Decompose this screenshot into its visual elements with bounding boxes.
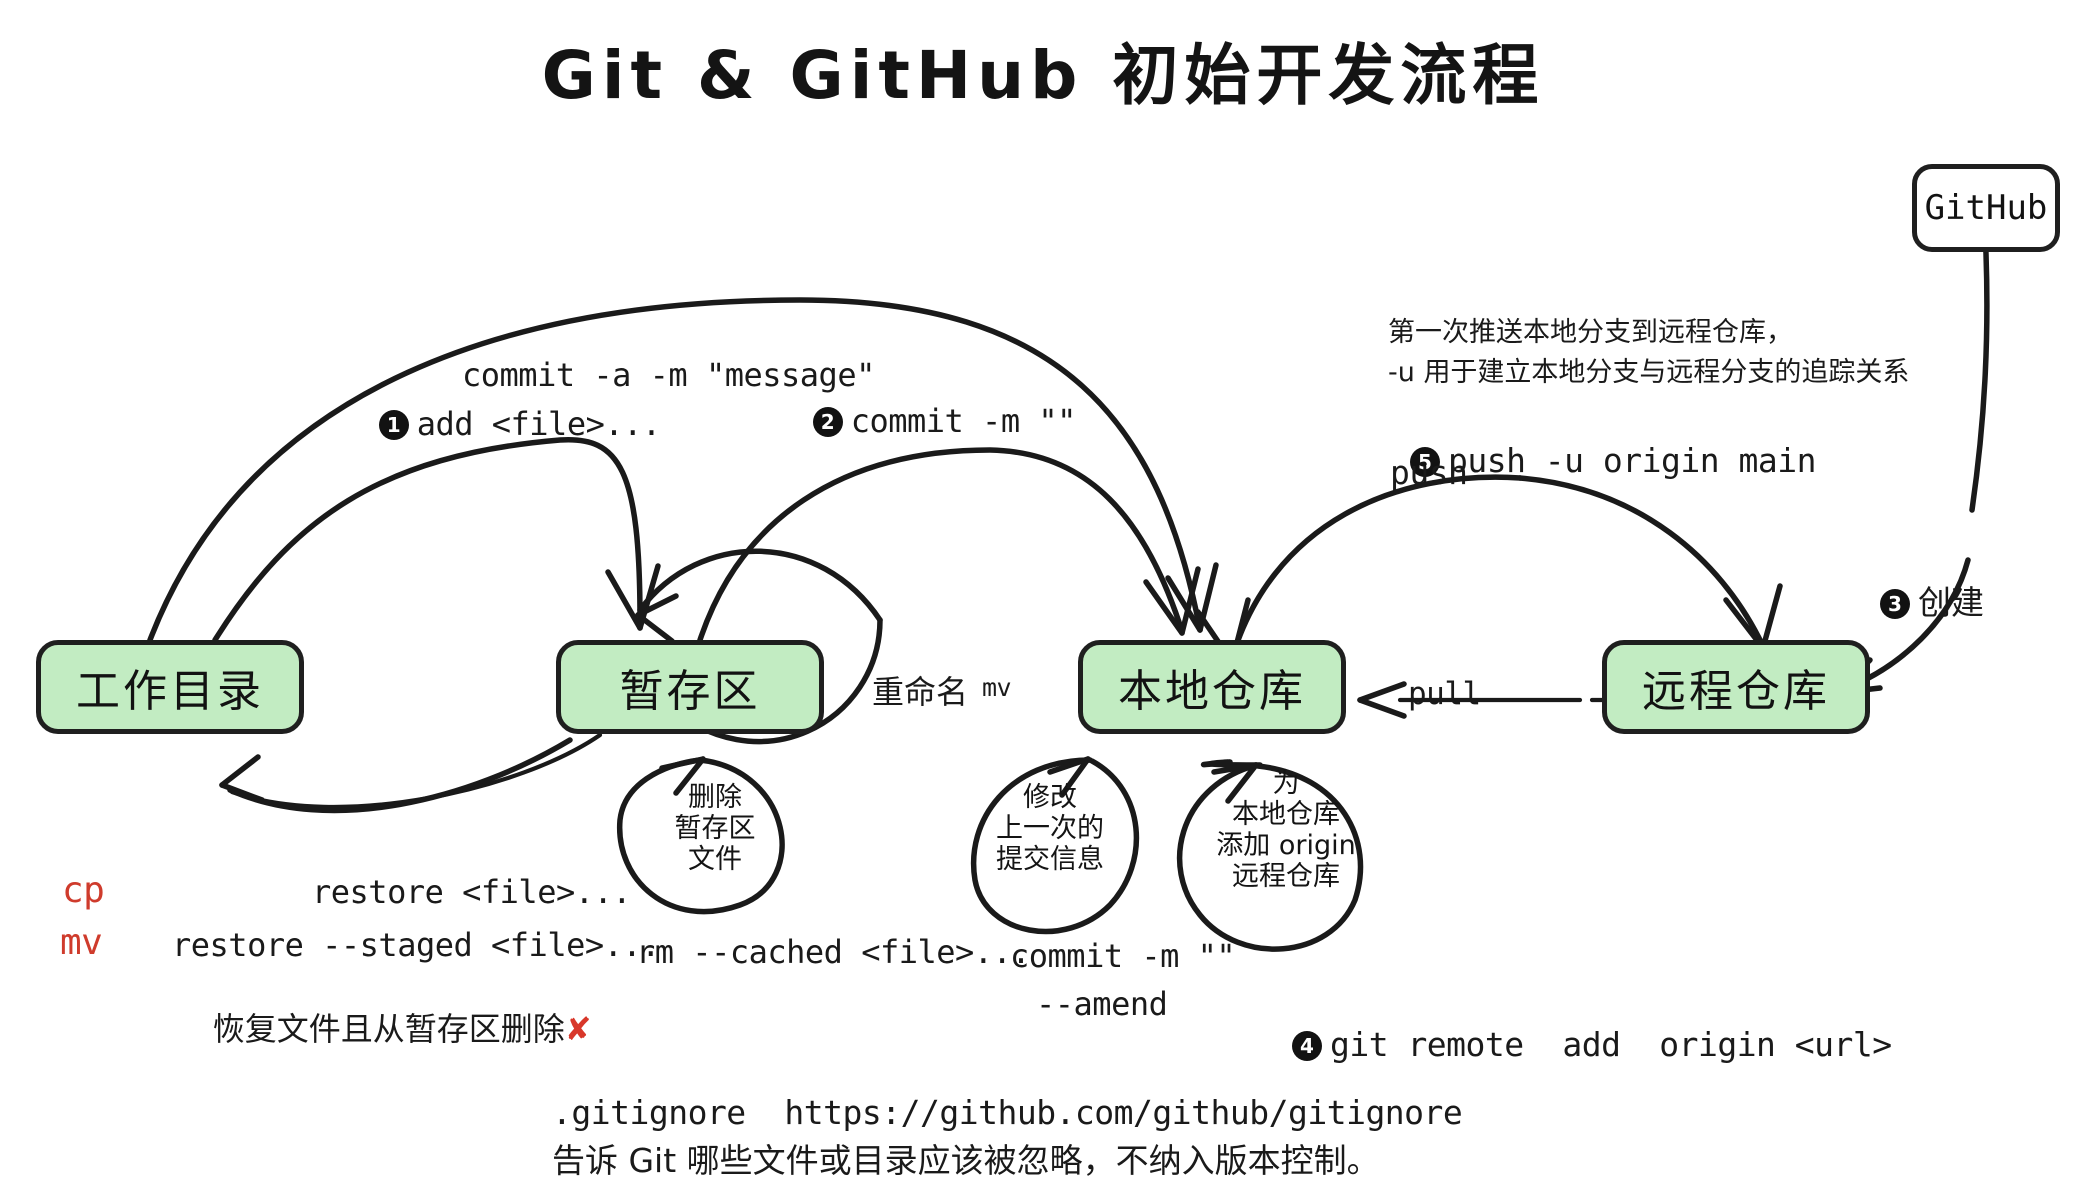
label-rename-cmd: mv bbox=[982, 672, 1011, 704]
page-title: Git & GitHub 初始开发流程 bbox=[0, 22, 2086, 118]
footer-gitignore-desc: 告诉 Git 哪些文件或目录应该被忽略，不纳入版本控制。 bbox=[552, 1140, 1380, 1182]
label-step3-text: 创建 bbox=[1918, 583, 1984, 622]
node-working-directory-label: 工作目录 bbox=[76, 655, 264, 719]
loop-add-origin-line-1: 本地仓库 bbox=[1196, 799, 1376, 830]
loop-delete-staged-line-0: 删除 bbox=[640, 782, 790, 813]
loop-add-origin-line-0: 为 bbox=[1196, 768, 1376, 799]
label-step5-text: push -u origin main bbox=[1448, 441, 1816, 480]
node-github-label: GitHub bbox=[1925, 188, 2048, 228]
label-mv: mv bbox=[60, 920, 102, 966]
label-commit-amend-line2: --amend bbox=[1036, 984, 1167, 1025]
step-3-badge: 3 bbox=[1880, 589, 1910, 619]
loop-amend-line-0: 修改 bbox=[970, 782, 1130, 813]
step-1-badge: 1 bbox=[379, 410, 409, 440]
node-local-repository[interactable]: 本地仓库 bbox=[1078, 640, 1346, 734]
loop-delete-staged-line-1: 暂存区 bbox=[640, 813, 790, 844]
diagram-canvas: Git & GitHub 初始开发流程 bbox=[0, 0, 2086, 1192]
node-local-repository-label: 本地仓库 bbox=[1118, 655, 1306, 719]
label-step1: 1add <file>... bbox=[338, 363, 661, 486]
loop-delete-staged-line-2: 文件 bbox=[640, 844, 790, 875]
node-github[interactable]: GitHub bbox=[1912, 164, 2060, 252]
label-restore-staged-note-text: 恢复文件且从暂存区删除 bbox=[213, 1010, 565, 1048]
node-remote-repository-label: 远程仓库 bbox=[1642, 655, 1830, 719]
node-working-directory[interactable]: 工作目录 bbox=[36, 640, 304, 734]
loop-amend-line-2: 提交信息 bbox=[970, 844, 1130, 875]
step-4-badge: 4 bbox=[1292, 1031, 1322, 1061]
label-step2: 2commit -m "" bbox=[772, 360, 1076, 483]
label-cp: cp bbox=[62, 868, 104, 914]
node-remote-repository[interactable]: 远程仓库 bbox=[1602, 640, 1870, 734]
label-commit-amend-line1: commit -m "" bbox=[1010, 936, 1235, 977]
label-push-note-line2: -u 用于建立本地分支与远程分支的追踪关系 bbox=[1388, 356, 1909, 391]
loop-amend-line-1: 上一次的 bbox=[970, 813, 1130, 844]
label-step3: 3创建 bbox=[1838, 540, 1984, 667]
label-step1-text: add <file>... bbox=[417, 405, 661, 443]
label-rm-cached: rm --cached <file>... bbox=[636, 932, 1030, 973]
loop-label-add-origin: 为 本地仓库 添加 origin 远程仓库 bbox=[1196, 768, 1376, 892]
loop-add-origin-line-3: 远程仓库 bbox=[1196, 861, 1376, 892]
step-2-badge: 2 bbox=[813, 407, 843, 437]
node-staging-area[interactable]: 暂存区 bbox=[556, 640, 824, 734]
label-step2-text: commit -m "" bbox=[851, 402, 1076, 440]
x-mark-icon: ✘ bbox=[565, 1010, 592, 1048]
label-restore-staged: restore --staged <file>... bbox=[172, 925, 660, 966]
label-rename: 重命名 bbox=[872, 672, 968, 713]
label-restore-file: restore <file>... bbox=[312, 872, 631, 913]
label-pull: pull bbox=[1408, 675, 1481, 715]
label-restore-staged-note: 恢复文件且从暂存区删除✘ bbox=[172, 968, 592, 1091]
node-staging-area-label: 暂存区 bbox=[620, 655, 761, 719]
loop-label-delete-staged: 删除 暂存区 文件 bbox=[640, 782, 790, 875]
label-step4-text: git remote add origin <url> bbox=[1330, 1025, 1892, 1064]
label-push-note-line1: 第一次推送本地分支到远程仓库， bbox=[1388, 316, 1793, 351]
label-step4: 4git remote add origin <url> bbox=[1250, 982, 1892, 1109]
loop-add-origin-line-2: 添加 origin bbox=[1196, 830, 1376, 861]
label-push: push bbox=[1390, 452, 1467, 494]
loop-label-amend-commit: 修改 上一次的 提交信息 bbox=[970, 782, 1130, 875]
footer-gitignore-line: .gitignore https://github.com/github/git… bbox=[552, 1092, 1462, 1134]
